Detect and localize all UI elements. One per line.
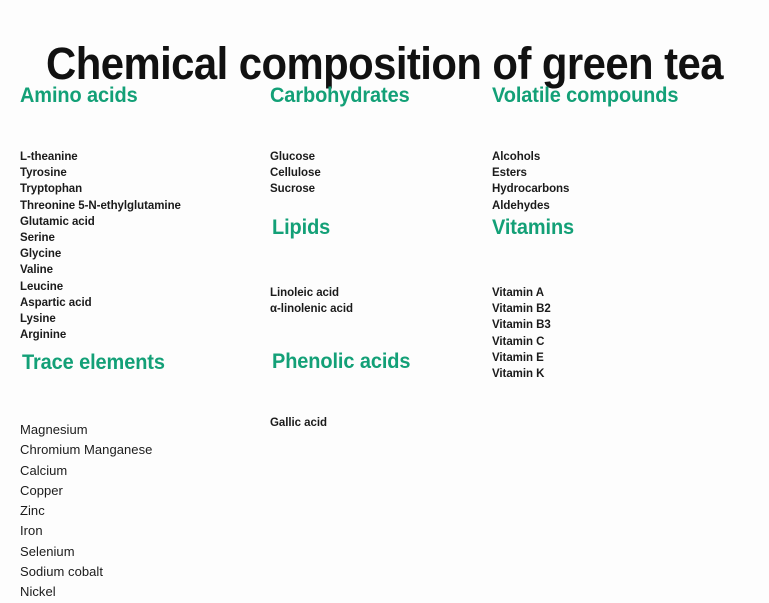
item-list-carbohydrates: Glucose Cellulose Sucrose [270,149,417,198]
list-item: Vitamin B3 [492,317,578,333]
section-vitamins: Vitamins Vitamin A Vitamin B2 Vitamin B3… [492,216,578,382]
list-item: Sodium cobalt [20,562,172,582]
item-list-lipids: Linoleic acid α-linolenic acid [270,285,353,317]
list-item: Tyrosine [20,165,181,181]
list-item: Selenium [20,542,172,562]
list-item: Lysine [20,311,181,327]
list-item: Linoleic acid [270,285,353,301]
list-item: Leucine [20,279,181,295]
item-list-vitamins: Vitamin A Vitamin B2 Vitamin B3 Vitamin … [492,285,578,382]
section-heading-carbohydrates: Carbohydrates [270,84,410,108]
list-item: Aspartic acid [20,295,181,311]
section-heading-amino-acids: Amino acids [20,84,173,108]
list-item: Nickel [20,582,172,602]
item-list-amino-acids: L-theanine Tyrosine Tryptophan Threonine… [20,149,181,343]
list-item: Zinc [20,501,172,521]
list-item: Threonine 5-N-ethylglutamine [20,198,181,214]
list-item: Calcium [20,461,172,481]
list-item: Iron [20,521,172,541]
list-item: Aldehydes [492,198,688,214]
list-item: Valine [20,262,181,278]
section-volatile-compounds: Volatile compounds Alcohols Esters Hydro… [492,84,688,214]
section-heading-vitamins: Vitamins [492,216,574,240]
list-item: Vitamin K [492,366,578,382]
section-lipids: Lipids Linoleic acid α-linolenic acid [270,216,353,317]
list-item: Serine [20,230,181,246]
section-phenolic-acids: Phenolic acids Gallic acid [270,350,418,431]
list-item: Sucrose [270,181,417,197]
column-left: Amino acids L-theanine Tyrosine Tryptoph… [20,0,265,570]
list-item: α-linolenic acid [270,301,353,317]
list-item: Vitamin A [492,285,578,301]
item-list-trace-elements: Magnesium Chromium Manganese Calcium Cop… [20,420,172,603]
list-item: Esters [492,165,688,181]
section-heading-lipids: Lipids [272,216,349,240]
section-heading-trace-elements: Trace elements [22,351,165,375]
list-item: Cellulose [270,165,417,181]
column-middle: Carbohydrates Glucose Cellulose Sucrose … [270,0,485,570]
list-item: Gallic acid [270,415,418,431]
section-heading-volatile-compounds: Volatile compounds [492,84,678,108]
list-item: Glutamic acid [20,214,181,230]
list-item: Hydrocarbons [492,181,688,197]
list-item: Arginine [20,327,181,343]
item-list-phenolic-acids: Gallic acid [270,415,418,431]
list-item: Vitamin C [492,334,578,350]
list-item: Vitamin B2 [492,301,578,317]
section-carbohydrates: Carbohydrates Glucose Cellulose Sucrose [270,84,417,198]
list-item: Glycine [20,246,181,262]
list-item: Magnesium [20,420,172,440]
list-item: Alcohols [492,149,688,165]
list-item: L-theanine [20,149,181,165]
section-trace-elements: Trace elements Magnesium Chromium Mangan… [20,351,172,603]
list-item: Glucose [270,149,417,165]
column-right: Volatile compounds Alcohols Esters Hydro… [492,0,757,570]
list-item: Vitamin E [492,350,578,366]
infographic-root: Chemical composition of green tea Amino … [0,0,769,570]
item-list-volatile-compounds: Alcohols Esters Hydrocarbons Aldehydes [492,149,688,214]
list-item: Copper [20,481,172,501]
list-item: Chromium Manganese [20,440,172,460]
section-heading-phenolic-acids: Phenolic acids [272,350,410,374]
list-item: Tryptophan [20,181,181,197]
section-amino-acids: Amino acids L-theanine Tyrosine Tryptoph… [20,84,181,343]
